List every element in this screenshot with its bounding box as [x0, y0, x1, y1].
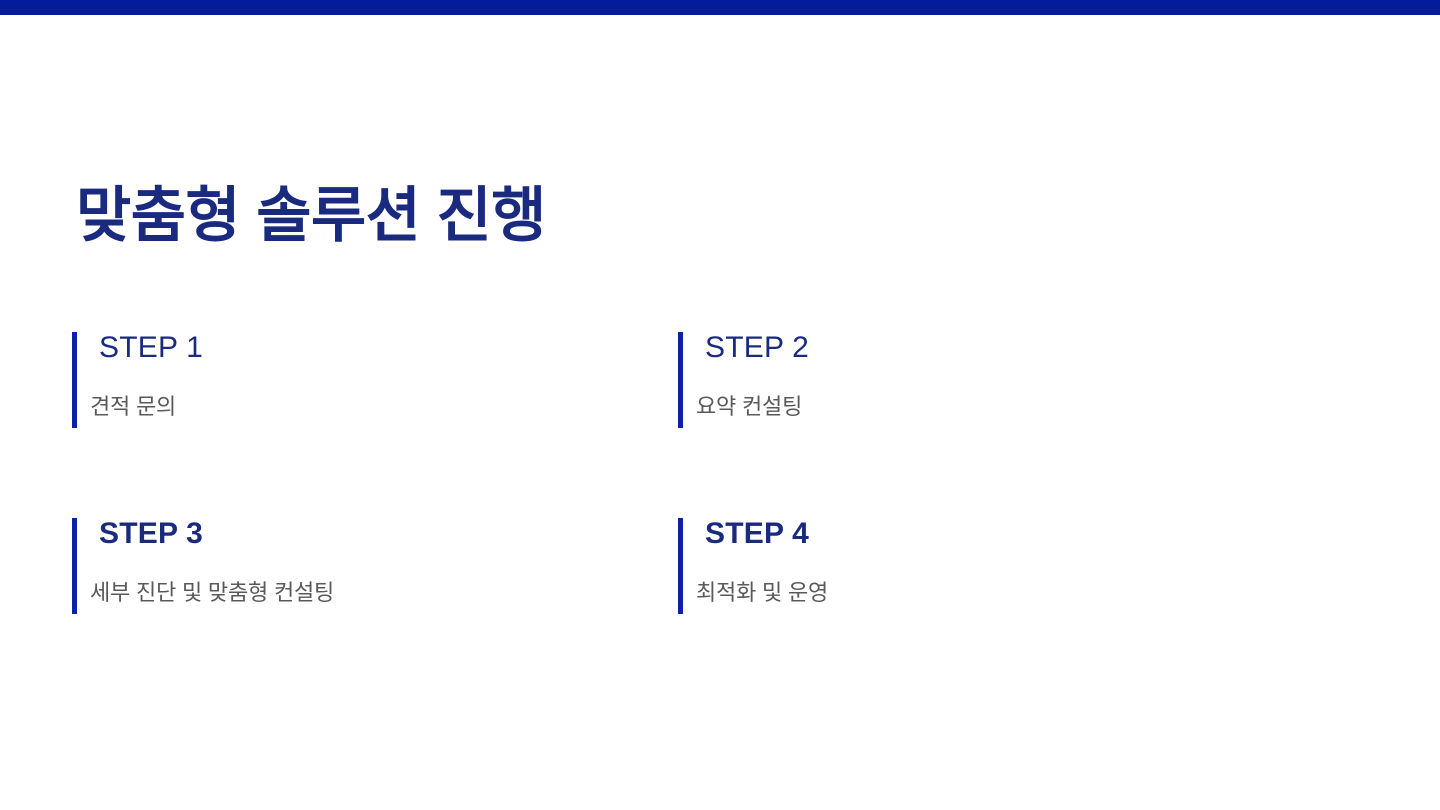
step-label-4: STEP 4 — [705, 515, 809, 553]
step-description-3: 세부 진단 및 맞춤형 컨설팅 — [90, 578, 334, 608]
step-label-1: STEP 1 — [99, 329, 203, 367]
steps-grid: STEP 1 견적 문의 STEP 2 요약 컨설팅 STEP 3 세부 진단 … — [0, 0, 1440, 810]
step-description-4: 최적화 및 운영 — [696, 578, 828, 608]
step-label-2: STEP 2 — [705, 329, 809, 367]
step-label-3: STEP 3 — [99, 515, 203, 553]
step-description-1: 견적 문의 — [90, 392, 176, 422]
step-card-1[interactable]: STEP 1 견적 문의 — [72, 332, 632, 428]
slide-canvas: 맞춤형 솔루션 진행 STEP 1 견적 문의 STEP 2 요약 컨설팅 ST… — [0, 0, 1440, 810]
step-card-4[interactable]: STEP 4 최적화 및 운영 — [678, 518, 1238, 614]
step-card-3[interactable]: STEP 3 세부 진단 및 맞춤형 컨설팅 — [72, 518, 632, 614]
step-description-2: 요약 컨설팅 — [696, 392, 802, 422]
step-card-2[interactable]: STEP 2 요약 컨설팅 — [678, 332, 1238, 428]
